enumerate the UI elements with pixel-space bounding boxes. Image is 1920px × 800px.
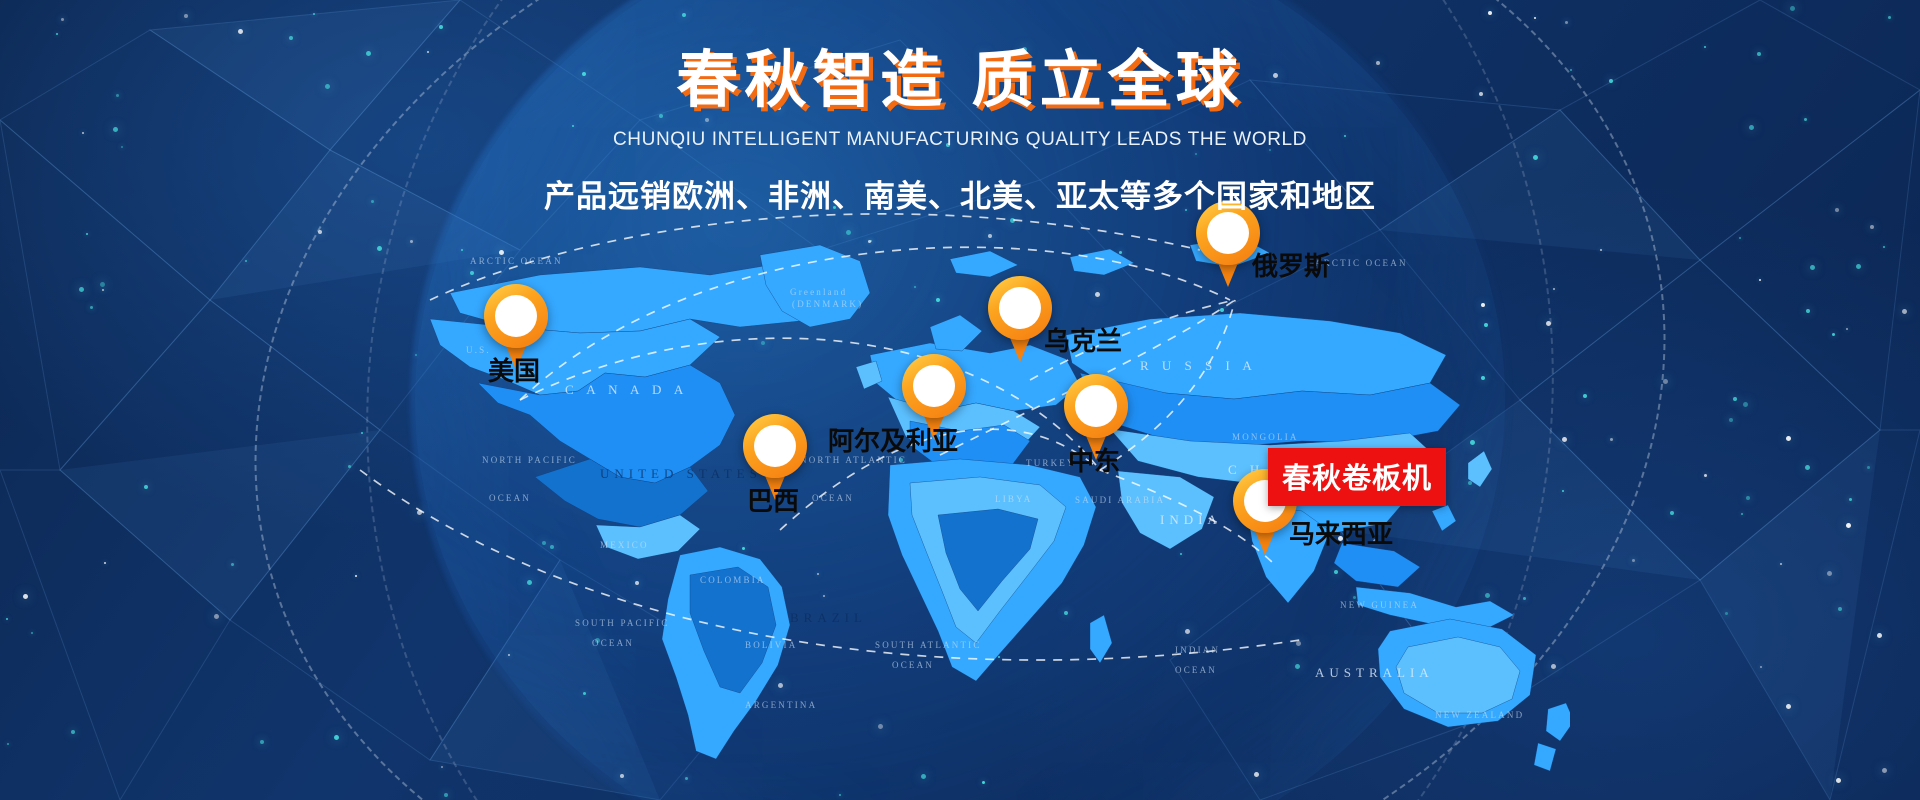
background-particle [56,33,58,35]
background-particle [1759,279,1761,281]
map-marker-algeria[interactable]: 阿尔及利亚 [902,354,966,440]
subtitle-english: CHUNQIU INTELLIGENT MANUFACTURING QUALIT… [0,129,1920,151]
background-particle [1856,264,1861,269]
background-particle [1902,309,1907,314]
background-particle [1663,379,1668,384]
background-particle [23,594,28,599]
background-particle [1610,438,1613,441]
background-particle [361,432,363,434]
background-particle [104,562,106,564]
background-particle [245,260,247,262]
background-particle [214,614,219,619]
map-marker-middleeast[interactable]: 中东 [1064,374,1128,460]
background-particle [1832,333,1835,336]
marker-label-usa: 美国 [488,358,540,384]
marker-label-brazil: 巴西 [747,488,799,514]
background-particle [144,485,148,489]
background-particle [1877,633,1882,638]
background-particle [6,618,8,620]
background-particle [1670,511,1674,515]
background-particle [1790,6,1795,11]
background-particle [102,289,104,291]
background-particle [1786,436,1791,441]
background-particle [1882,768,1887,773]
background-particle [1729,418,1733,422]
background-particle [1810,265,1815,270]
background-particle [355,575,357,577]
background-particle [1805,465,1810,470]
background-particle [1883,246,1885,248]
map-marker-ukraine[interactable]: 乌克兰 [988,276,1052,362]
background-particle [1488,11,1492,15]
background-particle [1838,607,1842,611]
headline-block: 春秋智造 质立全球 CHUNQIU INTELLIGENT MANUFACTUR… [0,48,1920,216]
marker-label-malaysia: 马来西亚 [1289,521,1393,547]
description-chinese: 产品远销欧洲、非洲、南美、北美、亚太等多个国家和地区 [0,171,1920,216]
background-particle [1725,612,1728,615]
background-particle [260,740,264,744]
background-particle [1739,237,1741,239]
background-particle [682,13,686,17]
background-particle [71,730,75,734]
background-particle [1806,309,1810,313]
marker-label-middleeast: 中东 [1068,448,1120,474]
background-particle [1741,513,1743,515]
background-particle [1760,666,1762,668]
background-particle [100,282,105,287]
background-particle [1632,559,1635,562]
background-particle [86,233,88,235]
background-particle [1600,249,1602,251]
background-particle [1846,328,1848,330]
background-particle [444,793,448,797]
background-particle [1836,778,1841,783]
background-particle [90,306,93,309]
marker-label-ukraine: 乌克兰 [1044,328,1122,354]
location-pin-icon [988,276,1052,362]
background-particle [231,563,234,566]
background-particle [7,743,9,745]
background-particle [1780,563,1782,565]
background-particle [289,36,293,40]
background-particle [1849,498,1852,501]
background-particle [685,777,688,780]
background-particle [1583,394,1587,398]
background-particle [61,18,64,21]
background-particle [313,13,315,15]
background-particle [1867,466,1870,469]
background-particle [79,287,84,292]
background-particle [1704,474,1707,477]
background-particle [318,230,322,234]
background-particle [184,14,188,18]
background-particle [1743,402,1748,407]
background-particle [1565,21,1568,24]
background-particle [1870,225,1874,229]
background-particle [1846,523,1851,528]
map-marker-usa[interactable]: 美国 [484,284,548,370]
background-particle [1888,16,1891,19]
background-particle [334,735,339,740]
background-particle [31,632,33,634]
page-title: 春秋智造 质立全球 [676,48,1243,115]
background-particle [1534,17,1536,19]
background-particle [839,794,841,796]
background-particle [377,246,382,251]
background-particle [1786,704,1791,709]
background-particle [348,465,351,468]
product-badge[interactable]: 春秋卷板机 [1268,448,1446,506]
background-particle [439,25,443,29]
marker-label-algeria: 阿尔及利亚 [828,428,958,454]
marker-label-russia: 俄罗斯 [1252,253,1330,279]
background-particle [1733,397,1737,401]
background-particle [1827,571,1832,576]
background-particle [1746,496,1750,500]
background-particle [982,781,985,784]
background-particle [238,29,243,34]
banner-stage: ARCTIC OCEANARCTIC OCEANGreenland(DENMAR… [0,0,1920,800]
map-marker-brazil[interactable]: 巴西 [743,414,807,500]
